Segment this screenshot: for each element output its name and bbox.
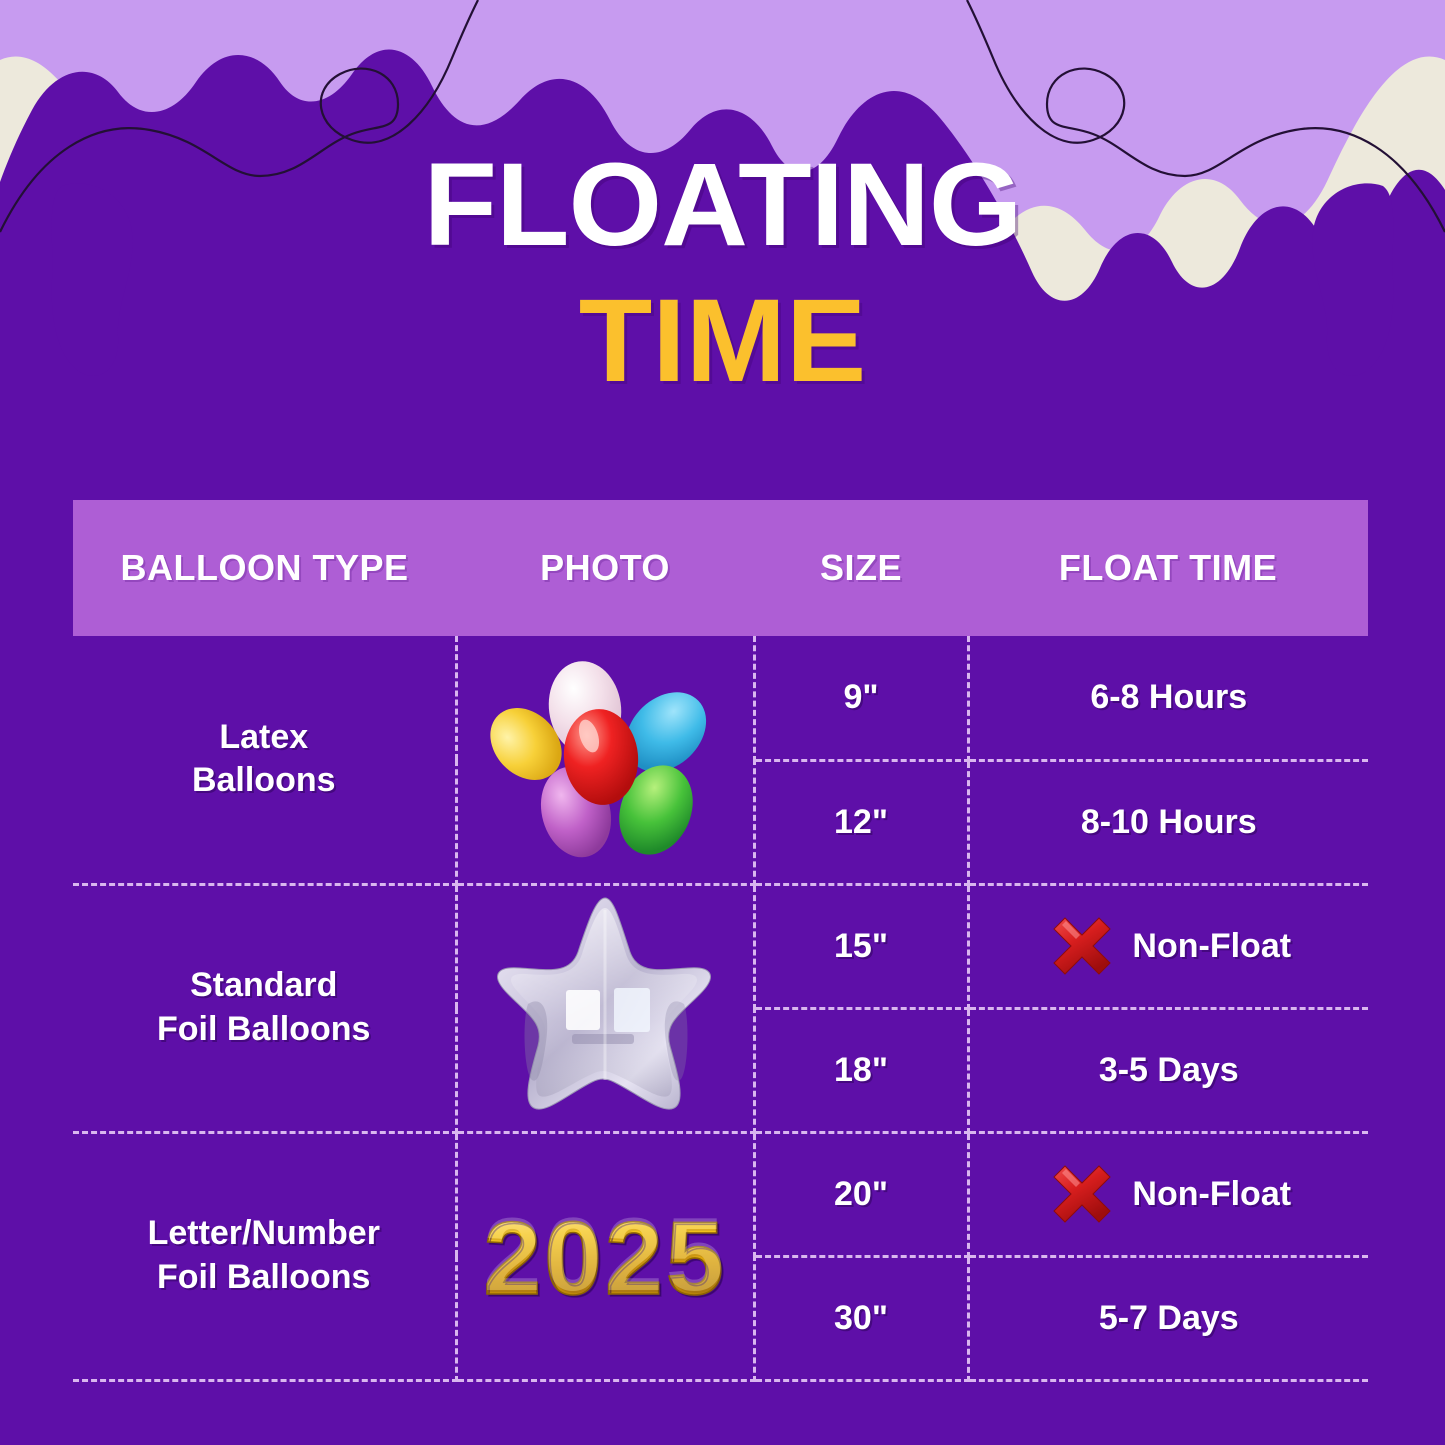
- cell-size: 15": [754, 884, 968, 1008]
- float-time-value: 3-5 Days: [1099, 1051, 1239, 1090]
- balloon-type-line1: Standard: [73, 964, 455, 1008]
- latex-balloon-cluster-photo: [480, 652, 730, 867]
- cell-balloon-type: Letter/Number Foil Balloons: [73, 1132, 456, 1380]
- column-header-balloon-type: BALLOON TYPE: [73, 500, 456, 636]
- page-subtitle: TIME: [0, 282, 1445, 400]
- cell-float-time: 6-8 Hours: [968, 636, 1368, 760]
- cell-photo: [456, 884, 754, 1132]
- cell-float-time: 8-10 Hours: [968, 760, 1368, 884]
- cell-photo: [456, 636, 754, 884]
- size-value: 12": [834, 803, 888, 841]
- gold-number-foil-balloon-2025-photo: 2025 2025: [479, 1196, 731, 1316]
- cell-size: 20": [754, 1132, 968, 1256]
- size-value: 9": [843, 678, 878, 716]
- column-header-photo: PHOTO: [456, 500, 754, 636]
- cell-float-time: 5-7 Days: [968, 1256, 1368, 1380]
- cell-float-time: 3-5 Days: [968, 1008, 1368, 1132]
- balloon-type-line2: Foil Balloons: [73, 1256, 455, 1300]
- infographic-page: FLOATING TIME BALLOON TYPE PHOTO SIZE FL…: [0, 0, 1445, 1445]
- float-time-table-wrapper: BALLOON TYPE PHOTO SIZE FLOAT TIME Latex…: [73, 500, 1368, 1380]
- table-row: Letter/Number Foil Balloons: [73, 1132, 1368, 1256]
- balloon-type-line2: Balloons: [73, 759, 455, 803]
- size-value: 15": [834, 927, 888, 965]
- title-block: FLOATING TIME: [0, 146, 1445, 400]
- float-time-value: Non-Float: [1132, 927, 1291, 966]
- size-value: 30": [834, 1299, 888, 1337]
- cell-size: 9": [754, 636, 968, 760]
- float-time-value: Non-Float: [1132, 1175, 1291, 1214]
- table-row: Latex Balloons: [73, 636, 1368, 760]
- svg-text:2025: 2025: [483, 1197, 726, 1313]
- cell-balloon-type: Standard Foil Balloons: [73, 884, 456, 1132]
- cell-size: 30": [754, 1256, 968, 1380]
- red-x-cross-icon: [1046, 1158, 1118, 1230]
- page-title: FLOATING: [0, 146, 1445, 264]
- cell-float-time: Non-Float: [968, 884, 1368, 1008]
- cell-float-time: Non-Float: [968, 1132, 1368, 1256]
- float-time-table: BALLOON TYPE PHOTO SIZE FLOAT TIME Latex…: [73, 500, 1368, 1382]
- table-row: Standard Foil Balloons: [73, 884, 1368, 1008]
- size-value: 18": [834, 1051, 888, 1089]
- red-x-cross-icon: [1046, 910, 1118, 982]
- column-header-size: SIZE: [754, 500, 968, 636]
- silver-foil-star-balloon-photo: [488, 894, 723, 1122]
- float-time-value: 8-10 Hours: [1081, 803, 1257, 842]
- cell-size: 18": [754, 1008, 968, 1132]
- size-value: 20": [834, 1175, 888, 1213]
- balloon-type-line2: Foil Balloons: [73, 1008, 455, 1052]
- balloon-type-line1: Latex: [73, 716, 455, 760]
- float-time-value: 5-7 Days: [1099, 1299, 1239, 1338]
- table-body: Latex Balloons: [73, 636, 1368, 1380]
- cell-balloon-type: Latex Balloons: [73, 636, 456, 884]
- column-header-float-time: FLOAT TIME: [968, 500, 1368, 636]
- cell-size: 12": [754, 760, 968, 884]
- table-header: BALLOON TYPE PHOTO SIZE FLOAT TIME: [73, 500, 1368, 636]
- table-header-row: BALLOON TYPE PHOTO SIZE FLOAT TIME: [73, 500, 1368, 636]
- float-time-value: 6-8 Hours: [1090, 678, 1247, 717]
- balloon-type-line1: Letter/Number: [73, 1212, 455, 1256]
- cell-photo: 2025 2025: [456, 1132, 754, 1380]
